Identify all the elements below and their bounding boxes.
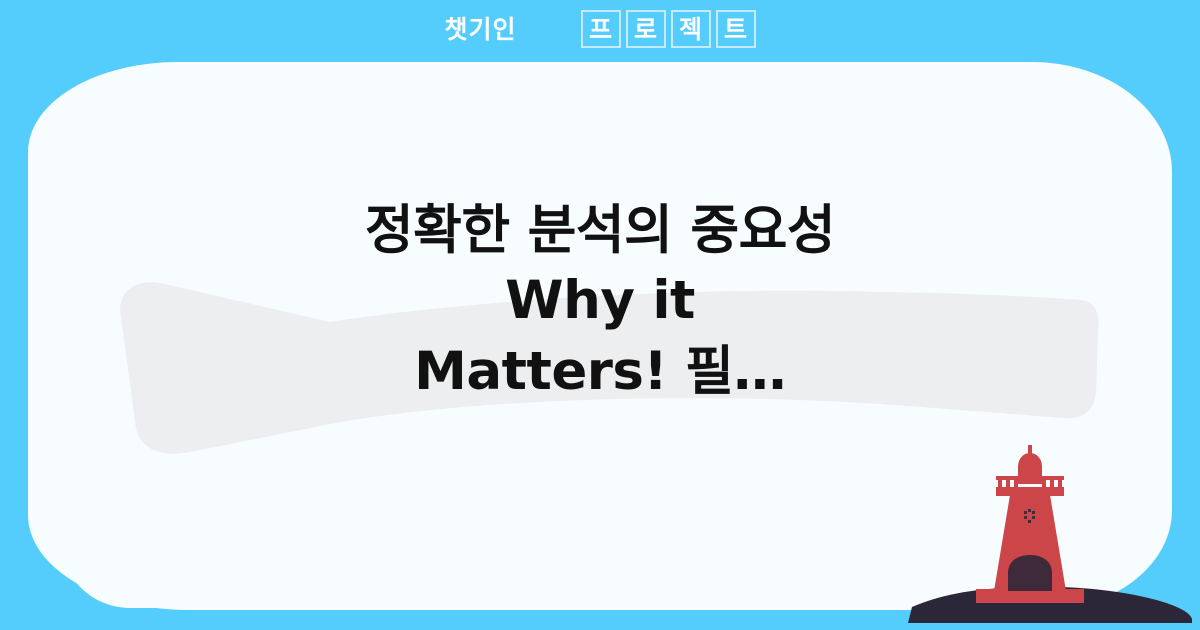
lighthouse-icon	[900, 445, 1200, 630]
lighthouse-illustration	[900, 445, 1200, 630]
tower-plinth	[976, 589, 1084, 603]
lantern-finial	[1028, 445, 1032, 454]
section-tag-char-2: 로	[626, 10, 666, 48]
railing-baluster	[1058, 479, 1062, 488]
og-image-card: 챗기인 프 로 젝 트 정확한 분석의 중요성 Why it Matters! …	[0, 0, 1200, 630]
header-bar: 챗기인 프 로 젝 트	[0, 0, 1200, 58]
section-tag: 프 로 젝 트	[581, 10, 756, 48]
section-tag-char-4: 트	[716, 10, 756, 48]
gallery-deck	[996, 487, 1064, 496]
title-line-3: Matters! 필…	[90, 337, 1110, 407]
section-tag-char-3: 젝	[671, 10, 711, 48]
page-title: 정확한 분석의 중요성 Why it Matters! 필…	[0, 196, 1200, 407]
lantern-base	[1014, 478, 1046, 484]
title-line-1: 정확한 분석의 중요성	[90, 196, 1110, 266]
railing-baluster	[1050, 479, 1054, 488]
section-tag-char-1: 프	[581, 10, 621, 48]
arched-doorway	[1008, 555, 1052, 591]
title-line-2: Why it	[90, 266, 1110, 336]
brand-name: 챗기인	[444, 17, 516, 42]
lantern-room	[1018, 453, 1042, 480]
railing-baluster	[998, 479, 1002, 488]
railing-baluster	[1006, 479, 1010, 488]
